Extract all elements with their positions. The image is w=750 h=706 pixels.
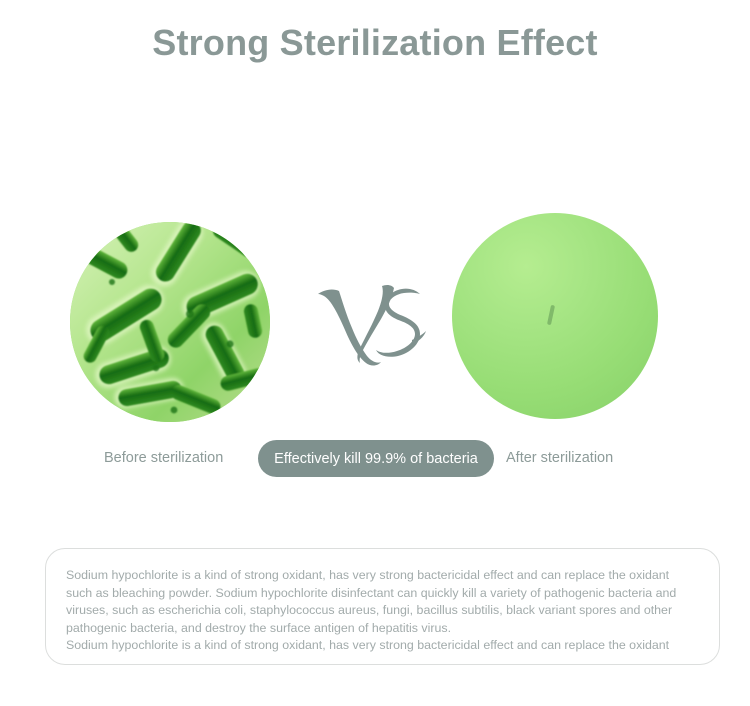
description-paragraph-1: Sodium hypochlorite is a kind of strong … [66, 567, 697, 637]
description-panel: Sodium hypochlorite is a kind of strong … [45, 548, 720, 665]
after-sterilization-image [452, 213, 658, 419]
kill-rate-badge: Effectively kill 99.9% of bacteria [258, 440, 494, 477]
page-title: Strong Sterilization Effect [0, 18, 750, 68]
caption-after-sterilization: After sterilization [506, 450, 613, 466]
before-sterilization-image [70, 222, 270, 422]
versus-icon [312, 278, 430, 370]
caption-before-sterilization: Before sterilization [104, 450, 223, 466]
comparison-section: Before sterilization After sterilization… [0, 200, 750, 490]
residual-bacterium-icon [547, 305, 555, 325]
description-paragraph-2: Sodium hypochlorite is a kind of strong … [66, 637, 697, 655]
